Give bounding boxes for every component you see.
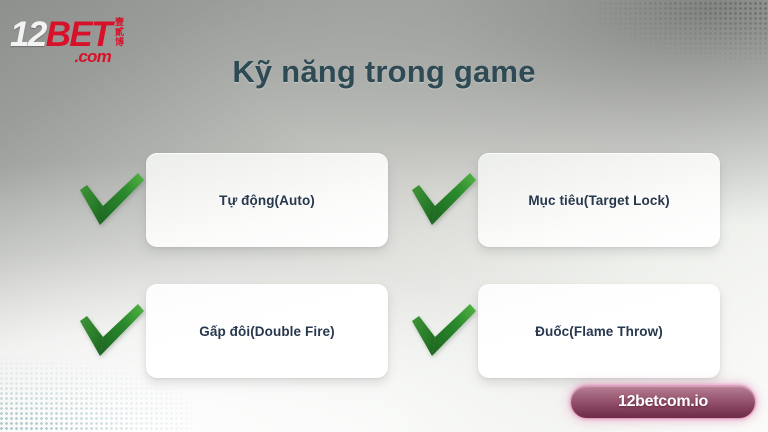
site-url-badge[interactable]: 12betcom.io [570, 385, 756, 419]
feature-grid: Tự động(Auto) Mục tiêu(Target Lock) [78, 152, 720, 379]
slide-canvas: 12BET .com 壹 貳 博 Kỹ năng trong game [0, 0, 768, 432]
feature-label: Tự động(Auto) [205, 193, 329, 208]
logo-cjk-char-1: 壹 [115, 18, 124, 28]
check-icon [408, 294, 482, 368]
check-icon [408, 163, 482, 237]
site-url-label: 12betcom.io [618, 393, 708, 411]
logo-cjk-char-3: 博 [115, 38, 124, 48]
feature-card[interactable]: Gấp đôi(Double Fire) [146, 284, 388, 378]
brand-logo[interactable]: 12BET .com 壹 貳 博 [10, 17, 124, 52]
logo-cjk-char-2: 貳 [115, 28, 124, 38]
feature-card[interactable]: Mục tiêu(Target Lock) [478, 153, 720, 247]
check-icon [76, 163, 150, 237]
feature-item-target-lock: Mục tiêu(Target Lock) [410, 152, 720, 248]
feature-label: Mục tiêu(Target Lock) [514, 193, 683, 208]
page-title: Kỹ năng trong game [0, 54, 768, 90]
feature-card[interactable]: Tự động(Auto) [146, 153, 388, 247]
feature-card[interactable]: Đuốc(Flame Throw) [478, 284, 720, 378]
check-icon [76, 294, 150, 368]
logo-cjk-characters: 壹 貳 博 [115, 18, 124, 48]
logo-text-12: 12 [10, 15, 46, 54]
feature-item-auto: Tự động(Auto) [78, 152, 388, 248]
feature-label: Đuốc(Flame Throw) [521, 324, 677, 339]
feature-label: Gấp đôi(Double Fire) [185, 324, 349, 339]
feature-item-double-fire: Gấp đôi(Double Fire) [78, 283, 388, 379]
logo-wordmark: 12BET .com [10, 17, 111, 52]
feature-item-flame-throw: Đuốc(Flame Throw) [410, 283, 720, 379]
